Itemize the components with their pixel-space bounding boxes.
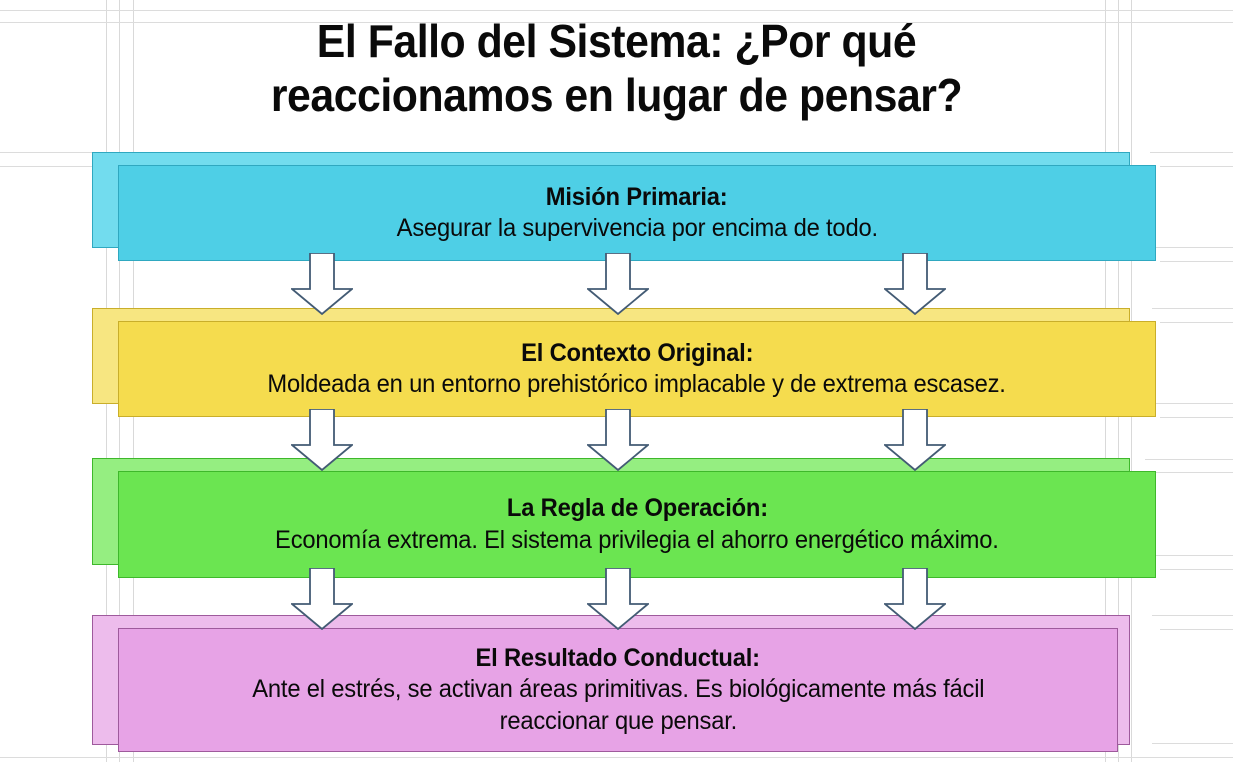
grid-line-horizontal <box>1150 152 1233 153</box>
flow-arrow-down-icon <box>884 253 946 315</box>
grid-line-horizontal <box>1152 308 1233 309</box>
node-rect <box>118 471 1156 578</box>
grid-line-horizontal <box>1152 555 1233 556</box>
grid-line-horizontal <box>1160 166 1233 167</box>
flow-arrow-down-icon <box>587 253 649 315</box>
grid-line-horizontal <box>0 757 1233 758</box>
flow-arrow-down-icon <box>587 568 649 630</box>
flow-arrow-down-icon <box>291 409 353 471</box>
flow-arrow-down-icon <box>587 409 649 471</box>
page-title: El Fallo del Sistema: ¿Por qué reacciona… <box>43 14 1190 123</box>
grid-line-horizontal <box>1145 459 1233 460</box>
grid-line-horizontal <box>0 10 1233 11</box>
node-rect <box>118 165 1156 261</box>
flow-arrow-down-icon <box>884 568 946 630</box>
grid-line-horizontal <box>1152 403 1233 404</box>
flow-arrow-down-icon <box>884 409 946 471</box>
grid-line-horizontal <box>1152 247 1233 248</box>
grid-line-horizontal <box>1160 629 1233 630</box>
grid-line-horizontal <box>1160 569 1233 570</box>
grid-line-horizontal <box>1152 743 1233 744</box>
grid-line-horizontal <box>1152 615 1233 616</box>
grid-line-horizontal <box>1152 472 1233 473</box>
flow-arrow-down-icon <box>291 253 353 315</box>
diagram-canvas: El Fallo del Sistema: ¿Por qué reacciona… <box>0 0 1233 762</box>
grid-line-horizontal <box>1160 417 1233 418</box>
grid-line-horizontal <box>1160 322 1233 323</box>
flow-arrow-down-icon <box>291 568 353 630</box>
grid-line-horizontal <box>0 166 96 167</box>
grid-line-horizontal <box>1160 261 1233 262</box>
node-rect <box>118 321 1156 417</box>
grid-line-horizontal <box>0 152 96 153</box>
node-rect <box>118 628 1118 752</box>
